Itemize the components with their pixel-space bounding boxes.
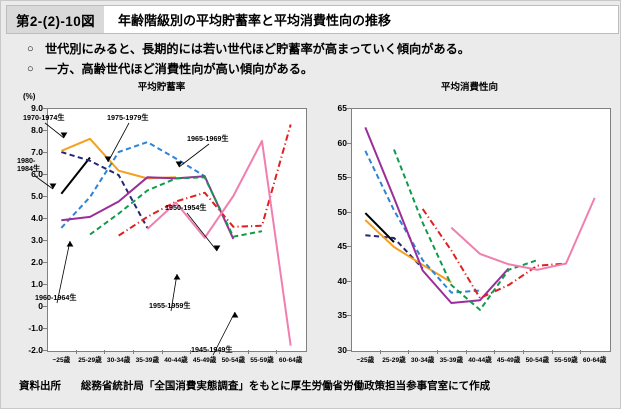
- series-layer: [9, 94, 345, 390]
- series-line: [365, 213, 394, 242]
- chart-title: 平均消費性向: [321, 81, 618, 94]
- figure-header: 第2-(2)-10図 年齢階級別の平均貯蓄率と平均消費性向の推移: [6, 5, 619, 34]
- source-label: 資料出所: [19, 380, 61, 392]
- series-callout-label: 1970-1974生: [23, 114, 65, 122]
- series-line: [365, 235, 422, 268]
- series-callout-label: 1950-1954生: [165, 204, 207, 212]
- series-line: [394, 149, 537, 309]
- callout-leader-line: [179, 144, 209, 167]
- series-layer: [321, 94, 621, 390]
- callout-arrow-icon: [50, 184, 57, 189]
- figure-number: 第2-(2)-10図: [7, 6, 104, 33]
- bullet-text: 世代別にみると、長期的には若い世代ほど貯蓄率が高まっていく傾向がある。: [45, 41, 470, 58]
- series-callout-label: 1945-1949生: [191, 346, 233, 354]
- series-line: [365, 127, 508, 303]
- callout-arrow-icon: [232, 312, 239, 317]
- callout-arrow-icon: [67, 241, 74, 246]
- bullet-item: ○ 世代別にみると、長期的には若い世代ほど貯蓄率が高まっていく傾向がある。: [27, 41, 607, 58]
- series-line: [61, 152, 147, 228]
- source-note: 資料出所 総務省統計局「全国消費実態調査」をもとに厚生労働省労働政策担当参事官室…: [19, 378, 490, 393]
- page-title: 年齢階級別の平均貯蓄率と平均消費性向の推移: [104, 6, 405, 33]
- source-text: 総務省統計局「全国消費実態調査」をもとに厚生労働省労働政策担当参事官室にて作成: [81, 380, 490, 392]
- callout-leader-line: [187, 213, 217, 251]
- series-callout-label: 1960-1964生: [35, 294, 77, 302]
- series-line: [365, 220, 451, 282]
- callout-leader-line: [35, 176, 53, 189]
- series-callout-label: 1965-1969生: [187, 135, 229, 143]
- series-line: [61, 176, 233, 239]
- callout-arrow-icon: [61, 133, 68, 138]
- series-line: [451, 198, 594, 270]
- chart-average-savings-rate: 平均貯蓄率 (%) 9.08.07.06.05.04.03.02.01.00-1…: [9, 81, 314, 366]
- chart-average-propensity-to-consume: 平均消費性向 6560555045403530~25歳25-29歳30-34歳3…: [321, 81, 618, 366]
- chart-title: 平均貯蓄率: [9, 81, 314, 94]
- callout-arrow-icon: [176, 162, 183, 167]
- bullet-text: 一方、高齢世代ほど消費性向が高い傾向がある。: [45, 61, 313, 78]
- bullet-item: ○ 一方、高齢世代ほど消費性向が高い傾向がある。: [27, 61, 607, 78]
- bullet-marker-icon: ○: [27, 41, 45, 58]
- callout-leader-line: [108, 123, 129, 162]
- series-line: [147, 141, 290, 346]
- series-line: [61, 142, 204, 228]
- summary-bullets: ○ 世代別にみると、長期的には若い世代ほど貯蓄率が高まっていく傾向がある。 ○ …: [27, 41, 607, 81]
- figure-page: 第2-(2)-10図 年齢階級別の平均貯蓄率と平均消費性向の推移 ○ 世代別にみ…: [0, 0, 621, 409]
- callout-leader-line: [45, 123, 64, 138]
- callout-arrow-icon: [174, 274, 181, 279]
- series-callout-label: 1980-1984生: [17, 157, 40, 174]
- series-line: [61, 158, 90, 194]
- series-callout-label: 1975-1979生: [107, 114, 149, 122]
- bullet-marker-icon: ○: [27, 61, 45, 78]
- series-callout-label: 1955-1959生: [149, 302, 191, 310]
